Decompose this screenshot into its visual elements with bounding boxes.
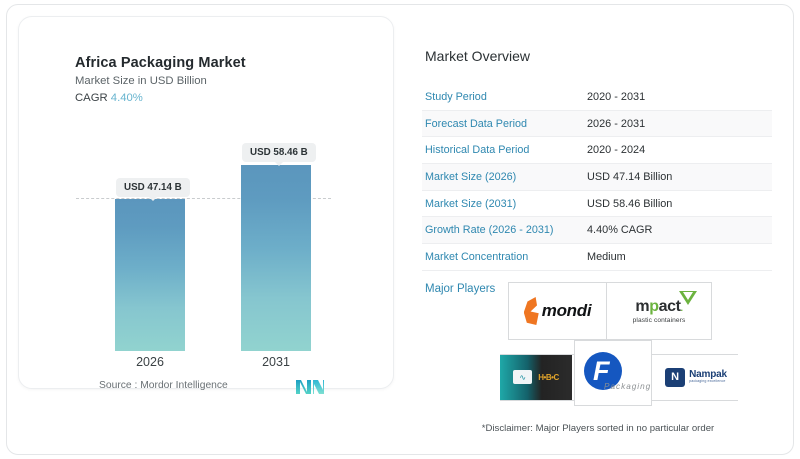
- mondi-flame-icon: [524, 297, 541, 325]
- nampak-mark-icon: N: [665, 368, 685, 387]
- row-key-market-size-2026: Market Size (2026): [422, 171, 587, 183]
- mpact-logo-tagline: plastic containers: [633, 317, 686, 324]
- market-overview-heading: Market Overview: [425, 48, 530, 64]
- mpact-logo-text: mpact.: [633, 298, 686, 316]
- player-logo-mpact: mpact. plastic containers: [606, 282, 712, 340]
- player-logo-mondi: mondi: [508, 282, 606, 340]
- mordor-intelligence-logo: [295, 379, 325, 395]
- row-value-forecast-data-period: 2026 - 2031: [587, 118, 645, 130]
- row-key-study-period: Study Period: [422, 91, 587, 103]
- bar-chart-plot: USD 47.14 B USD 58.46 B 2026 2031: [19, 17, 395, 390]
- row-value-study-period: 2020 - 2031: [587, 91, 645, 103]
- bar-2031: [241, 165, 311, 351]
- table-row: Growth Rate (2026 - 2031) 4.40% CAGR: [422, 217, 772, 244]
- bar-2026: [115, 199, 185, 351]
- bar-label-2031: USD 58.46 B: [242, 143, 316, 162]
- mondi-logo-text: mondi: [542, 301, 592, 321]
- dark-brand-text: H•B•C: [538, 373, 558, 382]
- nampak-logo-tagline: packaging excellence: [689, 380, 727, 384]
- row-key-forecast-data-period: Forecast Data Period: [422, 118, 587, 130]
- player-logo-dark-brand: ∿ H•B•C: [500, 354, 572, 400]
- row-value-historical-data-period: 2020 - 2024: [587, 144, 645, 156]
- player-logo-f-packaging: F Packaging: [574, 340, 652, 406]
- row-value-market-size-2026: USD 47.14 Billion: [587, 171, 672, 183]
- player-logo-nampak: N Nampak packaging excellence: [654, 356, 738, 398]
- row-key-growth-rate: Growth Rate (2026 - 2031): [422, 224, 587, 236]
- major-players-logo-grid: mondi mpact. plastic containers ∿ H•B•C …: [498, 282, 738, 407]
- row-value-growth-rate: 4.40% CAGR: [587, 224, 652, 236]
- x-axis-label-2031: 2031: [241, 355, 311, 369]
- table-row: Historical Data Period 2020 - 2024: [422, 137, 772, 164]
- f-packaging-text: Packaging: [604, 382, 651, 391]
- source-text: Source : Mordor Intelligence: [99, 380, 228, 391]
- table-row: Forecast Data Period 2026 - 2031: [422, 111, 772, 138]
- row-key-historical-data-period: Historical Data Period: [422, 144, 587, 156]
- bar-label-2026: USD 47.14 B: [116, 178, 190, 197]
- mpact-triangle-icon: [679, 291, 697, 305]
- chart-card: Africa Packaging Market Market Size in U…: [18, 16, 394, 389]
- row-key-market-size-2031: Market Size (2031): [422, 198, 587, 210]
- table-row: Market Concentration Medium: [422, 244, 772, 271]
- table-row: Market Size (2026) USD 47.14 Billion: [422, 164, 772, 191]
- table-row: Market Size (2031) USD 58.46 Billion: [422, 191, 772, 218]
- row-value-market-size-2031: USD 58.46 Billion: [587, 198, 672, 210]
- row-value-market-concentration: Medium: [587, 251, 626, 263]
- dark-brand-mark-icon: ∿: [513, 370, 532, 384]
- table-row: Study Period 2020 - 2031: [422, 84, 772, 111]
- row-key-market-concentration: Market Concentration: [422, 251, 587, 263]
- market-snapshot-infographic: Africa Packaging Market Market Size in U…: [0, 0, 800, 459]
- x-axis-label-2026: 2026: [115, 355, 185, 369]
- disclaimer-text: *Disclaimer: Major Players sorted in no …: [422, 423, 774, 434]
- major-players-label: Major Players: [425, 283, 495, 295]
- market-overview-table: Study Period 2020 - 2031 Forecast Data P…: [422, 84, 772, 271]
